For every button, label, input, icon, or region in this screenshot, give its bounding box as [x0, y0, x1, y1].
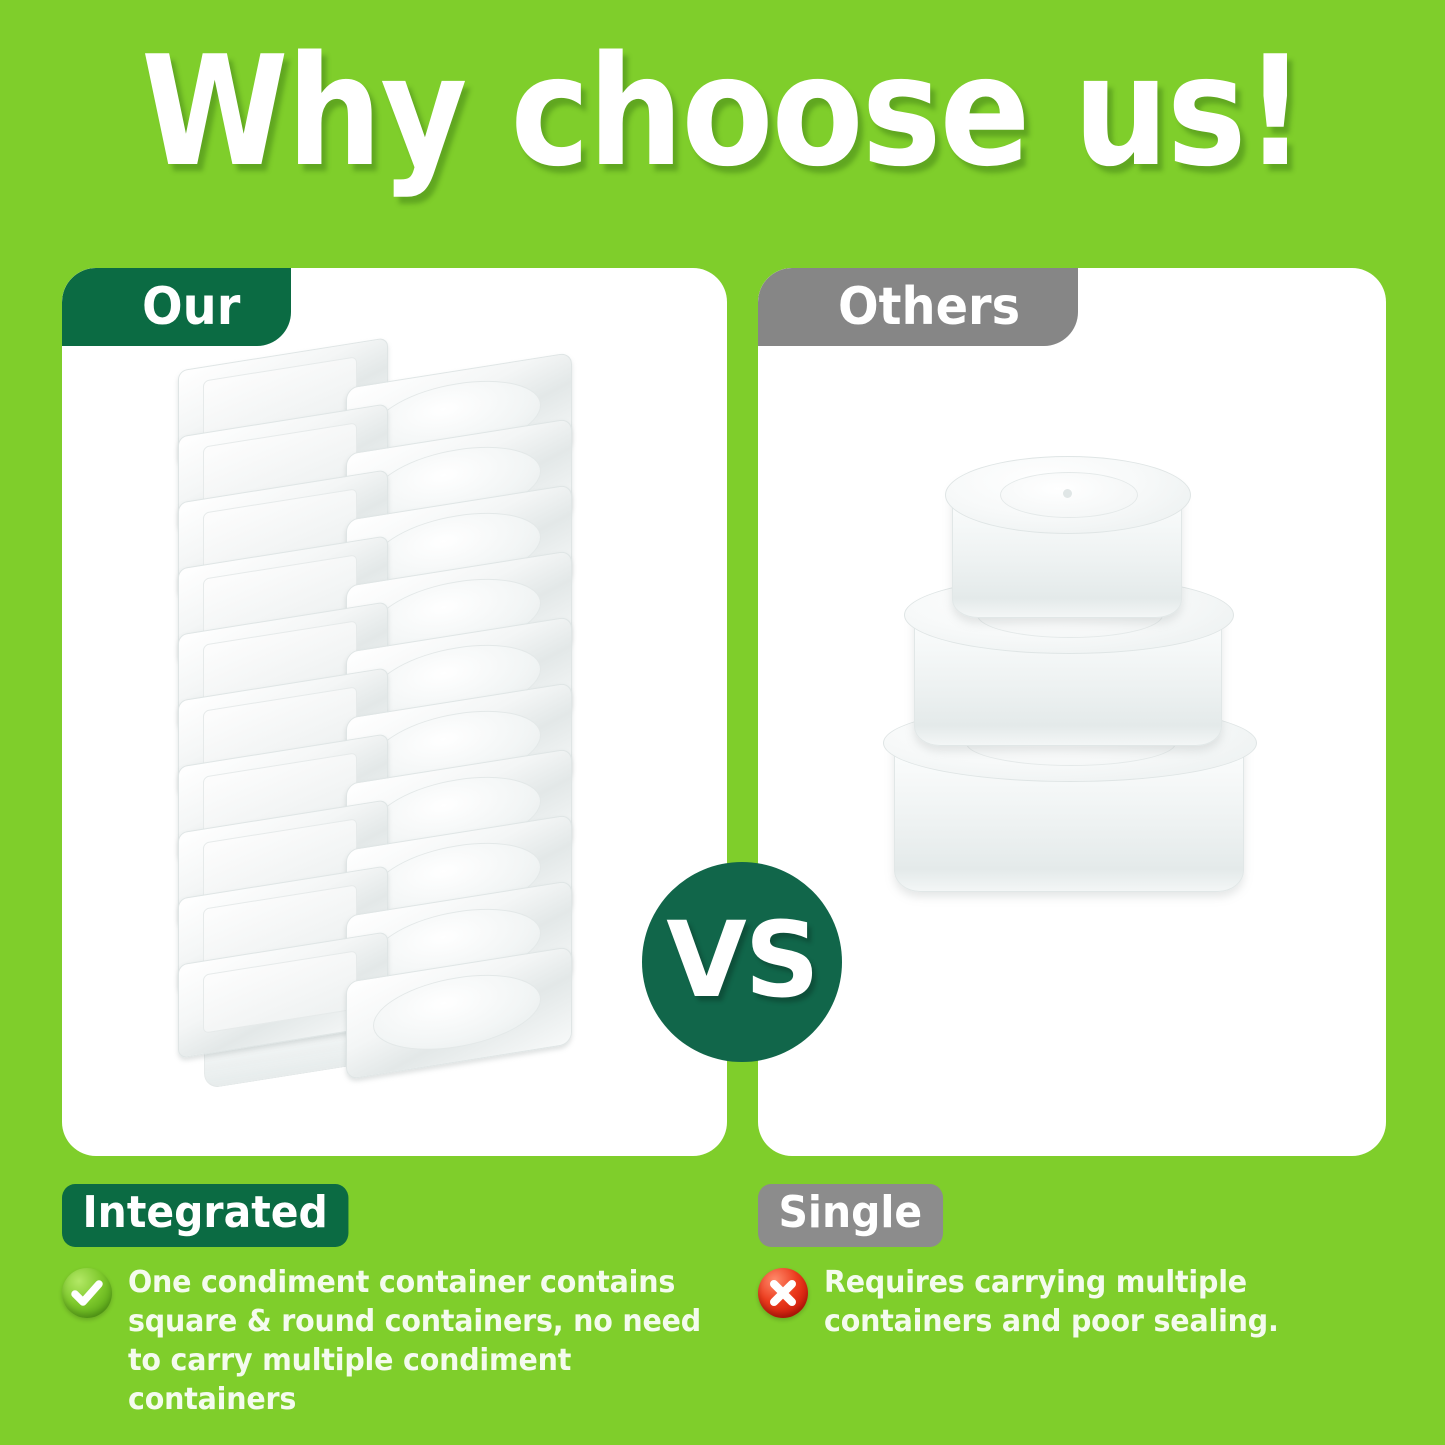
caption-integrated-text: One condiment container contains square …: [128, 1263, 711, 1419]
vs-label: VS: [666, 899, 817, 1021]
badge-integrated: Integrated: [62, 1184, 348, 1247]
comparison-card-our: Our: [62, 268, 727, 1156]
round-container-stack: [888, 464, 1258, 964]
others-product-image: [758, 346, 1386, 1156]
caption-single-text: Requires carrying multiple containers an…: [824, 1263, 1379, 1341]
why-choose-us-poster: Why choose us! Our: [0, 0, 1445, 1445]
combo-container: [178, 948, 570, 1060]
caption-single-row: Requires carrying multiple containers an…: [758, 1263, 1408, 1341]
card-tab-our: Our: [62, 268, 291, 346]
x-circle-icon: [758, 1268, 808, 1318]
combo-container-stack: [178, 354, 598, 1094]
check-circle-icon: [62, 1268, 112, 1318]
vs-badge: VS: [642, 862, 842, 1062]
page-title: Why choose us!: [87, 36, 1359, 188]
card-tab-others-label: Others: [838, 277, 1020, 337]
caption-single: Single Requires carrying multiple contai…: [758, 1184, 1408, 1341]
caption-integrated-row: One condiment container contains square …: [62, 1263, 742, 1419]
our-product-image: [62, 346, 727, 1156]
card-tab-our-label: Our: [142, 277, 240, 337]
card-tab-others: Others: [758, 268, 1078, 346]
badge-single: Single: [758, 1184, 943, 1247]
round-container-small: [952, 464, 1182, 618]
comparison-card-others: Others: [758, 268, 1386, 1156]
caption-integrated: Integrated One condiment container conta…: [62, 1184, 742, 1419]
